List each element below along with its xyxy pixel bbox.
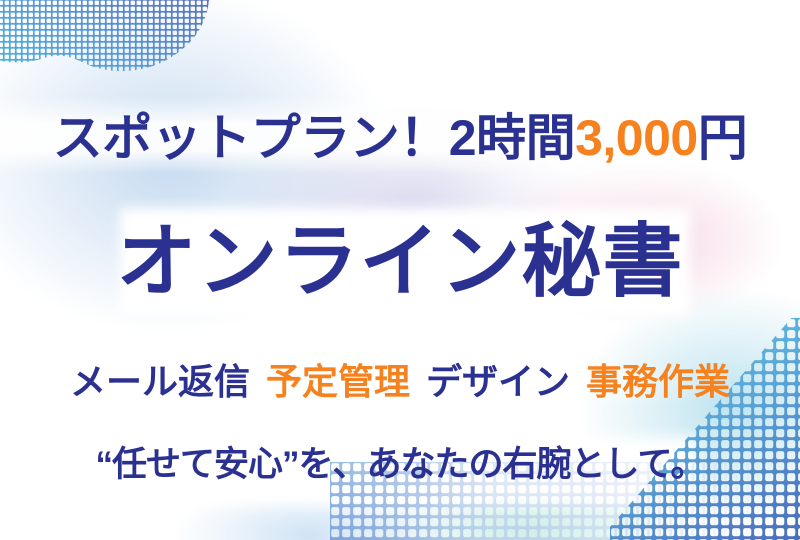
service-tag: 予定管理 [266,364,410,400]
headline-price: 3,000 [575,110,698,166]
headline: スポットプラン！2時間3,000円 [0,113,800,163]
service-tag: 事務作業 [586,364,730,400]
main-title: オンライン秘書 [0,222,800,302]
service-tag-list: メール返信予定管理デザイン事務作業 [0,364,800,400]
headline-suffix: 円 [698,110,748,166]
service-tag: デザイン [426,364,570,400]
tagline: “任せて安心”を、あなたの右腕として。 [0,447,800,482]
promo-banner: スポットプラン！2時間3,000円 オンライン秘書 メール返信予定管理デザイン事… [0,0,800,540]
service-tag: メール返信 [70,364,250,400]
halftone-blob-decoration [0,0,236,114]
headline-prefix: スポットプラン！2時間 [53,110,575,166]
